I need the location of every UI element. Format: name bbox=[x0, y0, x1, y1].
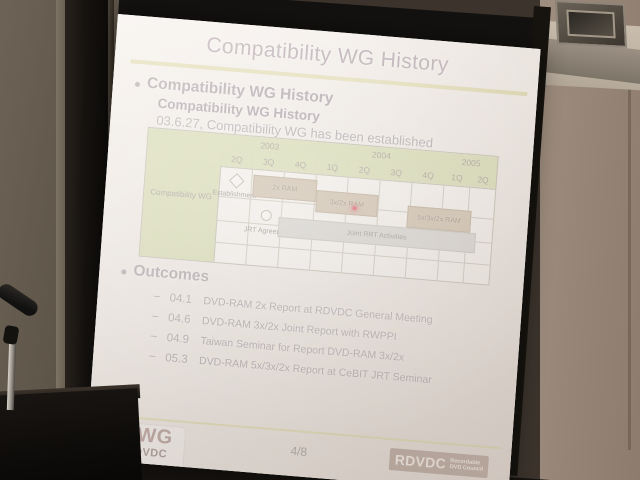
outcome-date: 05.3 bbox=[165, 352, 200, 367]
chart-row-label: Compatibility WG bbox=[140, 128, 224, 262]
slide-canvas: Compatibility WG History Compatibility W… bbox=[86, 14, 541, 480]
q-2003-3q: 3Q bbox=[252, 153, 286, 172]
q-2004-1q: 1Q bbox=[316, 158, 350, 177]
grid-line bbox=[245, 169, 253, 265]
meeting-room-scene: Compatibility WG History Compatibility W… bbox=[0, 0, 640, 480]
milestone-circle-icon bbox=[260, 210, 272, 222]
bar-2x-ram: 2x RAM bbox=[252, 175, 317, 202]
q-2004-3q: 3Q bbox=[380, 163, 414, 182]
outcome-date: 04.6 bbox=[168, 312, 203, 327]
door-frame-left bbox=[56, 0, 65, 438]
q-2003-2q: 2Q bbox=[220, 150, 254, 169]
rdvdc-badge: RDVDC Recordable DVD Council bbox=[389, 448, 489, 478]
projection-screen: Compatibility WG History Compatibility W… bbox=[86, 14, 541, 480]
wall-seam bbox=[628, 30, 631, 450]
q-2003-4q: 4Q bbox=[284, 155, 318, 174]
q-2005-2q: 2Q bbox=[469, 171, 497, 189]
bullet-dot-icon bbox=[121, 269, 126, 274]
outcome-date: 04.1 bbox=[169, 292, 204, 307]
list-dash-icon: – bbox=[153, 290, 160, 302]
bullet-dot-icon bbox=[135, 82, 140, 87]
podium bbox=[0, 388, 142, 480]
outcome-date: 04.9 bbox=[166, 332, 201, 347]
compatibility-activities-chart: Compatibility WG 2003 2004 2005 2Q 3Q 4Q… bbox=[139, 127, 499, 286]
list-dash-icon: – bbox=[149, 350, 156, 362]
rdvdc-badge-main: RDVDC bbox=[394, 451, 446, 471]
list-dash-icon: – bbox=[150, 330, 157, 342]
q-2005-1q: 1Q bbox=[444, 169, 472, 187]
q-2004-4q: 4Q bbox=[412, 166, 446, 185]
milestone-diamond-icon bbox=[229, 173, 245, 189]
hvac-vent-icon bbox=[555, 0, 627, 48]
list-dash-icon: – bbox=[152, 310, 159, 322]
bar-3x-2x-ram: 3x/2x RAM bbox=[315, 190, 378, 217]
outcomes-heading: Outcomes bbox=[133, 262, 210, 286]
q-2004-2q: 2Q bbox=[348, 161, 382, 180]
rdvdc-badge-sub: Recordable DVD Council bbox=[450, 458, 484, 474]
